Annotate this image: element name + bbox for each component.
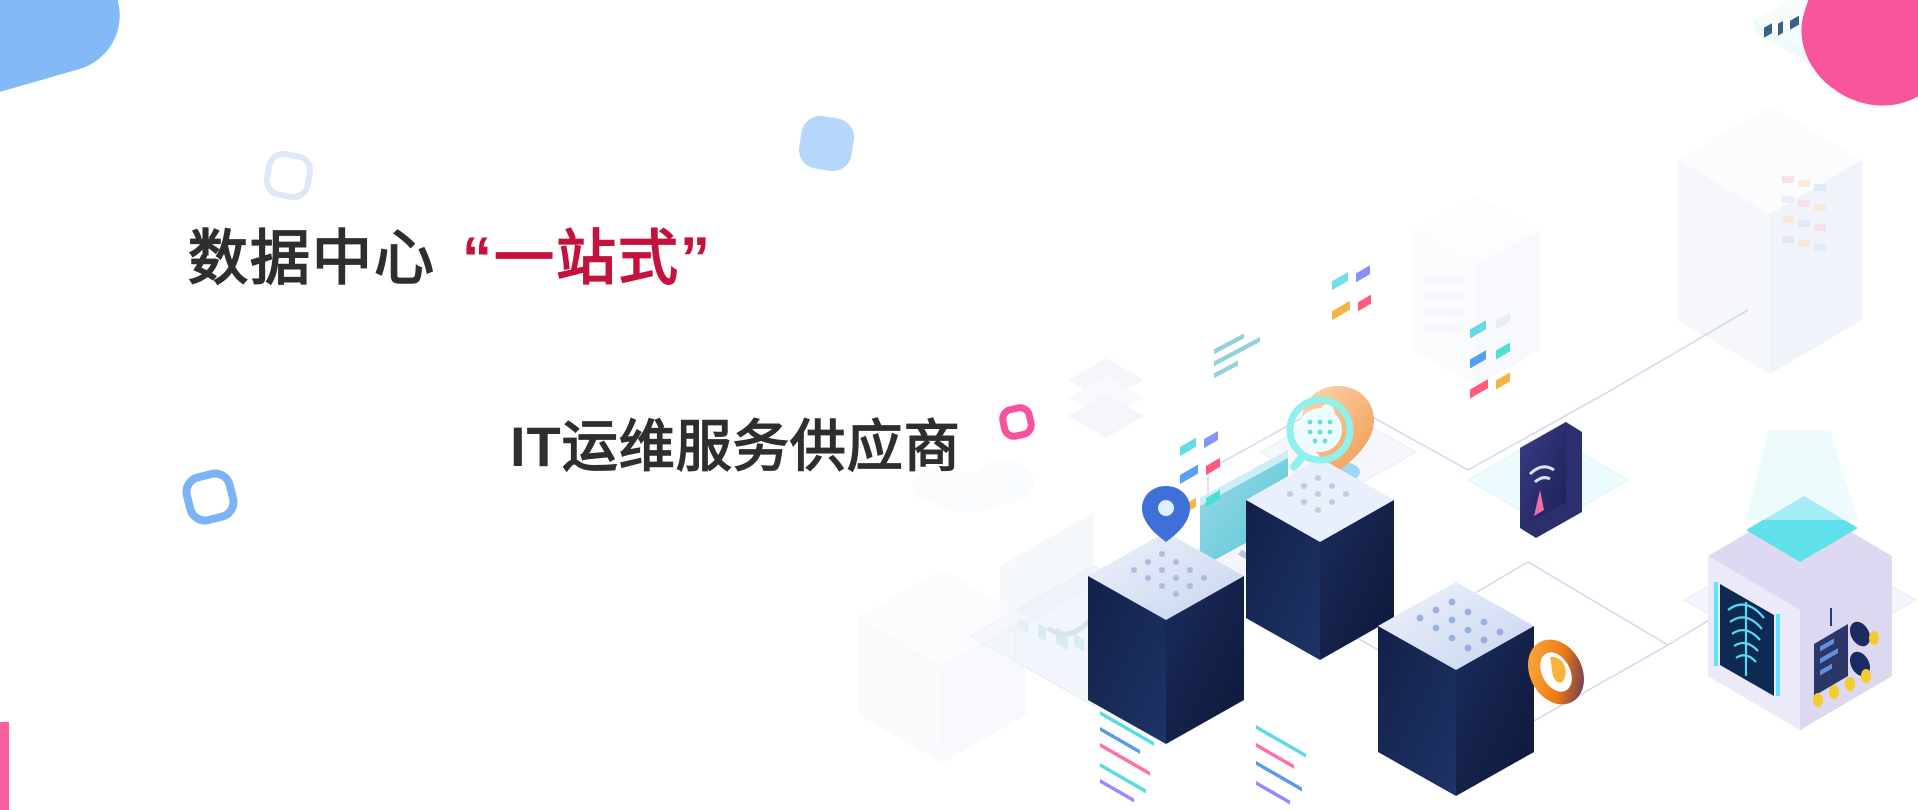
- server-rack-front-left: [1088, 431, 1244, 802]
- location-pin: [1302, 386, 1374, 483]
- orange-swirl: [1517, 630, 1595, 714]
- tablet-wifi: [1520, 422, 1582, 538]
- headline-prefix: 数据中心: [188, 225, 436, 292]
- server-rack-back-center: [1246, 265, 1394, 804]
- data-stack: [1068, 358, 1144, 438]
- monitor-center: [1200, 333, 1288, 568]
- edge-pink-bar: [0, 722, 9, 810]
- headline-highlight: 一站式: [494, 225, 680, 292]
- headline-quote-close: ”: [680, 225, 712, 292]
- dot-blue-ring: [178, 465, 241, 528]
- corner-pink-blob: [1783, 0, 1918, 124]
- headline-quote-open: “: [462, 225, 494, 292]
- biometric-scanner: [1708, 6, 1892, 730]
- server-rack-background-far: [1413, 196, 1540, 386]
- headline-line-1: 数据中心“一站式”: [188, 226, 1048, 292]
- network-links: [1058, 310, 1808, 730]
- server-rack-front-right: [1378, 312, 1534, 810]
- status-leds: [1813, 631, 1879, 707]
- headline-block: 数据中心“一站式” IT运维服务供应商: [188, 226, 1048, 292]
- watermark-cube: [855, 565, 1030, 795]
- isometric-datacenter-illustration: [908, 0, 1918, 810]
- dot-blue-solid: [796, 113, 857, 174]
- dot-lightblue-ring: [261, 148, 316, 203]
- hero-banner: 数据中心“一站式” IT运维服务供应商: [0, 0, 1918, 810]
- dot-pink-ring: [997, 402, 1037, 442]
- headline-line-2: IT运维服务供应商: [510, 416, 961, 478]
- platforms: [970, 408, 1916, 706]
- corner-blue-shape: [0, 0, 133, 117]
